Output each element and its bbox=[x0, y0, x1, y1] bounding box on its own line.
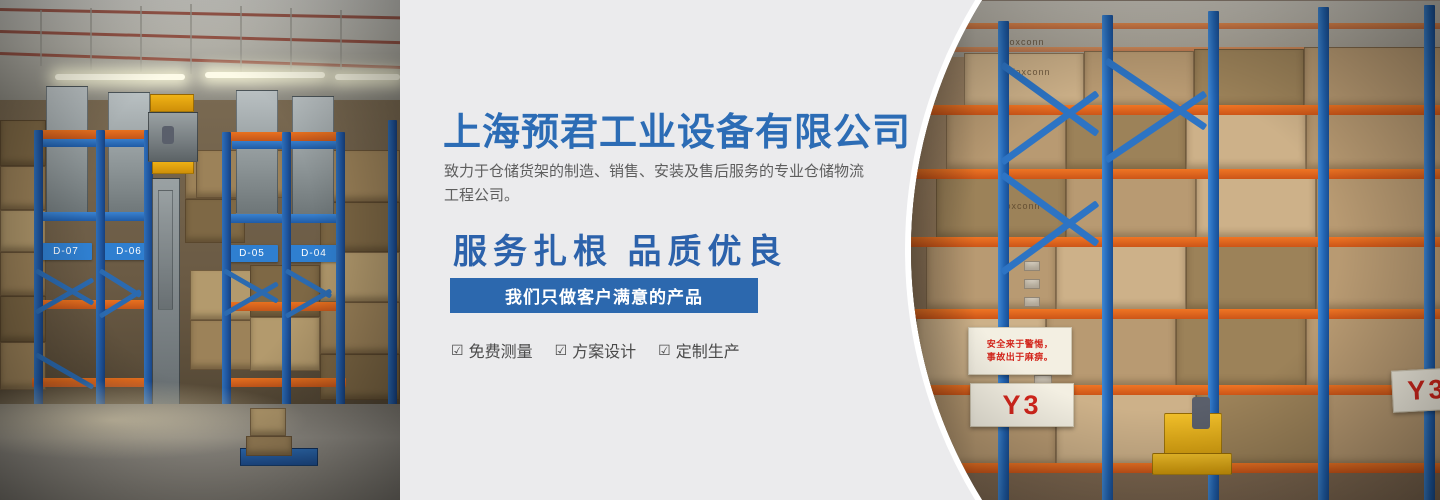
ceiling-purlin bbox=[340, 10, 342, 70]
aisle-sign-y3-right: Y3 bbox=[1391, 367, 1440, 413]
carton bbox=[1186, 109, 1306, 171]
loose-carton bbox=[246, 436, 292, 456]
aisle-sign-label: Y3 bbox=[1002, 390, 1041, 421]
hero-content: 上海预君工业设备有限公司 致力于仓储货架的制造、销售、安装及售后服务的专业仓储物… bbox=[443, 0, 913, 500]
aisle-label-d04: D-04 bbox=[288, 245, 340, 262]
ceiling-light bbox=[55, 74, 185, 80]
loose-carton bbox=[250, 408, 286, 436]
checkbox-checked-icon: ☑ bbox=[451, 343, 464, 357]
right-warehouse-photo-circle: foxconn foxconn foxconn foxconn bbox=[905, 0, 1440, 500]
rack-beam bbox=[36, 130, 152, 139]
rack-upright bbox=[388, 120, 397, 420]
rack-beam bbox=[906, 237, 1440, 247]
carton bbox=[1186, 241, 1316, 311]
ceiling-purlin bbox=[240, 6, 242, 74]
vna-mast-rail bbox=[158, 190, 173, 310]
pallet-load bbox=[292, 96, 334, 216]
forklift-operator bbox=[1192, 397, 1210, 429]
feature-label: 免费测量 bbox=[469, 338, 533, 362]
rack-upright bbox=[336, 132, 345, 448]
feature-item-custom-production[interactable]: ☑ 定制生产 bbox=[658, 338, 740, 362]
checkbox-checked-icon: ☑ bbox=[658, 343, 671, 357]
promise-badge-label: 我们只做客户满意的产品 bbox=[505, 283, 703, 308]
ceiling-purlin bbox=[140, 6, 142, 72]
vna-carriage bbox=[152, 160, 194, 174]
rack-beam bbox=[906, 309, 1440, 319]
right-photo-wrapper: foxconn foxconn foxconn foxconn bbox=[900, 0, 1440, 500]
carton bbox=[1176, 313, 1306, 387]
ceiling-light bbox=[205, 72, 325, 78]
rack-upright bbox=[1424, 5, 1435, 500]
company-title: 上海预君工业设备有限公司 bbox=[443, 101, 911, 156]
carton-label bbox=[1024, 279, 1040, 289]
safety-sign-line-1: 安全来于警惕， bbox=[987, 338, 1054, 351]
carton bbox=[1316, 239, 1440, 311]
carton-label bbox=[1024, 297, 1040, 307]
ceiling-purlin bbox=[40, 10, 42, 66]
pallet-load bbox=[46, 86, 88, 214]
aisle-sign-label: Y3 bbox=[1407, 373, 1440, 406]
rack-beam bbox=[38, 212, 150, 221]
right-photo-inner: foxconn foxconn foxconn foxconn bbox=[906, 1, 1440, 500]
safety-sign-line-2: 事故出于麻痹。 bbox=[987, 351, 1054, 364]
feature-item-free-measure[interactable]: ☑ 免费测量 bbox=[451, 338, 533, 362]
company-subtitle: 致力于仓储货架的制造、销售、安装及售后服务的专业仓储物流工程公司。 bbox=[444, 160, 864, 208]
promise-badge[interactable]: 我们只做客户满意的产品 bbox=[450, 278, 758, 313]
rack-upright bbox=[1102, 15, 1113, 500]
left-warehouse-photo: D-07 D-06 D-05 D-04 bbox=[0, 0, 400, 500]
feature-item-plan-design[interactable]: ☑ 方案设计 bbox=[555, 338, 637, 362]
ceiling-purlin bbox=[90, 8, 92, 70]
rack-beam bbox=[906, 169, 1440, 179]
carton-brand-label: foxconn bbox=[1006, 37, 1045, 47]
ceiling-purlin bbox=[190, 4, 192, 74]
hero-slogan: 服务扎根 品质优良 bbox=[453, 224, 788, 273]
carton-label bbox=[1024, 261, 1040, 271]
ceiling-beam bbox=[906, 23, 1440, 29]
ceiling-purlin bbox=[290, 8, 292, 72]
feature-label: 定制生产 bbox=[676, 338, 740, 362]
feature-label: 方案设计 bbox=[572, 338, 636, 362]
safety-sign: 安全来于警惕， 事故出于麻痹。 bbox=[968, 327, 1072, 375]
carton bbox=[1316, 171, 1440, 239]
aisle-label-d05: D-05 bbox=[226, 245, 278, 262]
vna-boom bbox=[150, 94, 194, 112]
rack-upright bbox=[998, 21, 1009, 500]
feature-list: ☑ 免费测量 ☑ 方案设计 ☑ 定制生产 bbox=[451, 338, 740, 362]
vna-operator bbox=[162, 126, 174, 144]
carton bbox=[1056, 243, 1186, 311]
ceiling-light bbox=[335, 74, 400, 80]
aisle-sign-y3: Y3 bbox=[970, 383, 1074, 427]
aisle-label-d07: D-07 bbox=[40, 243, 92, 260]
checkbox-checked-icon: ☑ bbox=[555, 343, 568, 357]
forklift-base bbox=[1152, 453, 1232, 475]
pallet-load bbox=[236, 90, 278, 214]
hero-banner: D-07 D-06 D-05 D-04 bbox=[0, 0, 1440, 500]
rack-upright bbox=[1318, 7, 1329, 500]
